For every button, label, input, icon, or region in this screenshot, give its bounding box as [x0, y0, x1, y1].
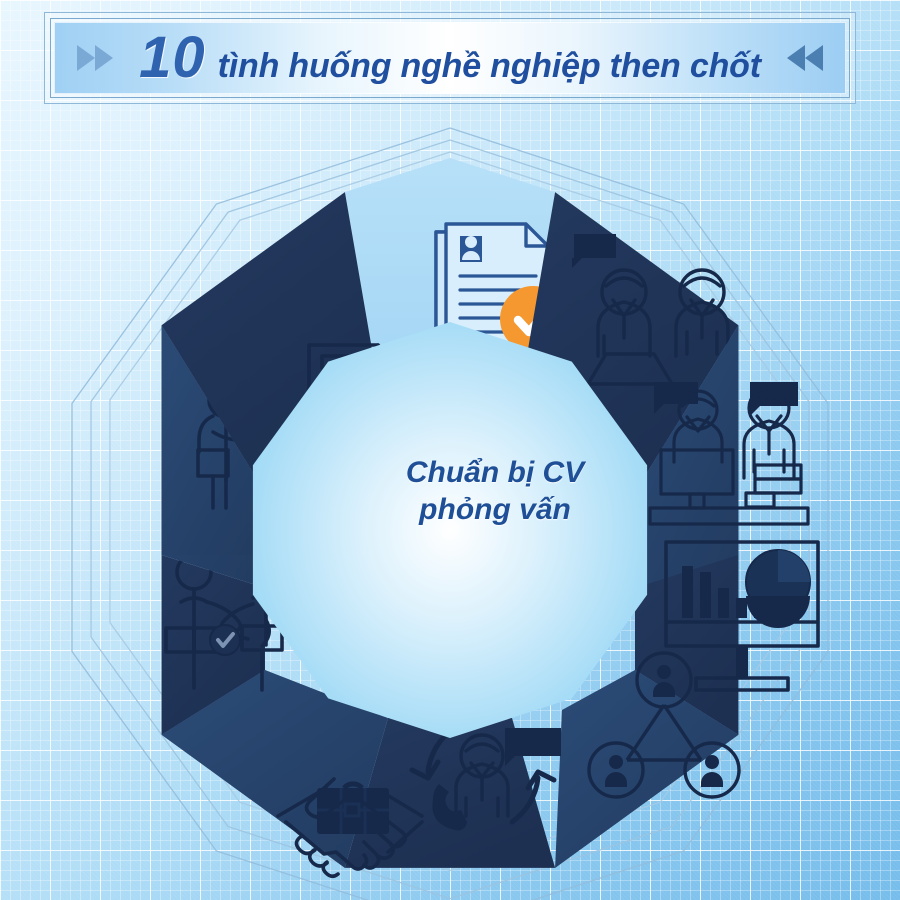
- page-title: 10 tình huống nghề nghiệp then chốt: [139, 29, 761, 87]
- title-text: tình huống nghề nghiệp then chốt: [218, 49, 761, 83]
- hub-decagon: [253, 322, 647, 738]
- double-chevron-right-icon: [73, 41, 117, 75]
- title-number: 10: [139, 29, 206, 87]
- infographic-canvas: 10 tình huống nghề nghiệp then chốt: [0, 0, 900, 900]
- header-banner-frame: 10 tình huống nghề nghiệp then chốt: [44, 12, 856, 104]
- header-banner: 10 tình huống nghề nghiệp then chốt: [54, 22, 846, 94]
- double-chevron-left-icon: [783, 41, 827, 75]
- decagon-wheel: Chuẩn bị CV phỏng vấn: [50, 110, 850, 900]
- header-banner-inner-frame: 10 tình huống nghề nghiệp then chốt: [50, 18, 850, 98]
